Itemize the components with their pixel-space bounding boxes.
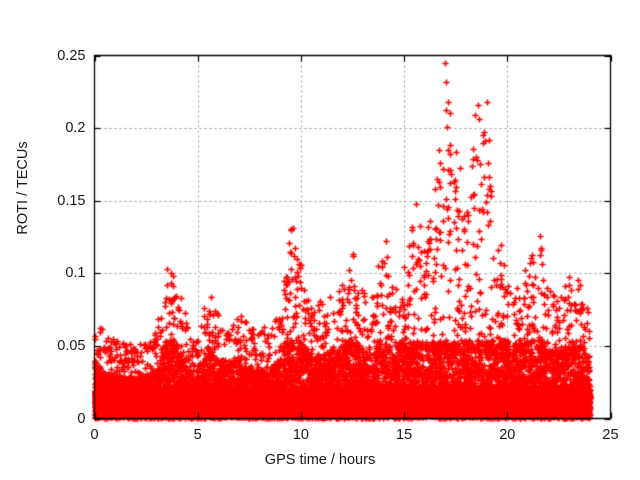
x-axis-label: GPS time / hours: [0, 452, 640, 468]
roti-scatter-figure: Day 209 of 2024, Rate Of TEC Index for r…: [0, 0, 640, 480]
y-tick-label: 0: [10, 411, 86, 427]
y-tick-label: 0.1: [10, 265, 86, 281]
x-tick-label: 20: [499, 427, 515, 443]
x-tick-label: 0: [90, 427, 98, 443]
x-tick-label: 10: [293, 427, 309, 443]
x-tick-label: 15: [396, 427, 412, 443]
plot-canvas: [0, 0, 640, 480]
x-tick-label: 25: [602, 427, 618, 443]
y-tick-label: 0.05: [10, 338, 86, 354]
y-tick-label: 0.25: [10, 48, 86, 64]
x-tick-label: 5: [194, 427, 202, 443]
y-axis-label: ROTI / TECUs: [15, 118, 31, 258]
